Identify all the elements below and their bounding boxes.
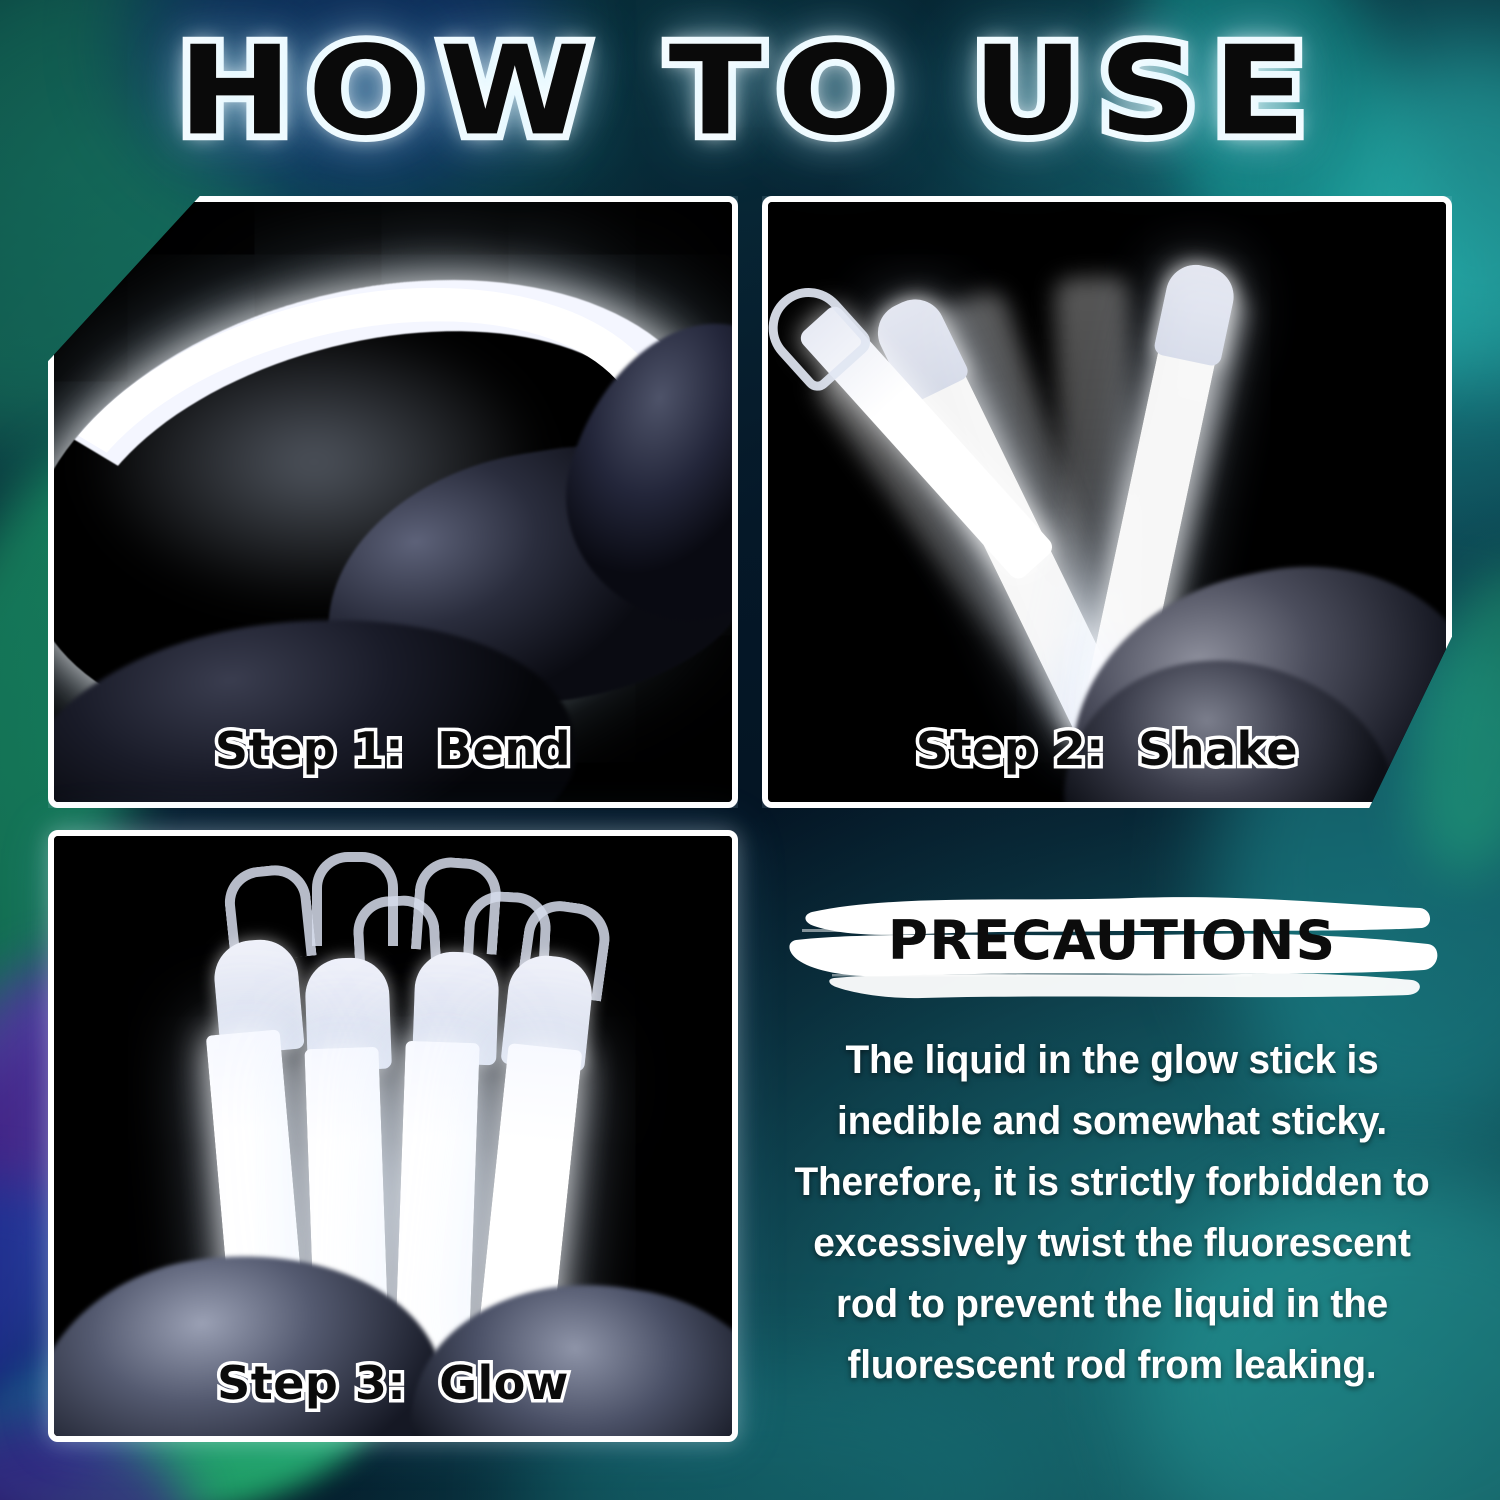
step-3-panel: Step 3: Glow [48, 830, 738, 1442]
step-3-photo [54, 836, 732, 1436]
step-1-panel: Step 1: Bend [48, 196, 738, 808]
step-2-label: Step 2: Shake [768, 722, 1446, 776]
precautions-section: PRECAUTIONS The liquid in the glow stick… [762, 830, 1462, 1442]
precautions-heading: PRECAUTIONS [765, 882, 1459, 1000]
step-3-label: Step 3: Glow [54, 1356, 732, 1410]
step-2-photo [768, 202, 1446, 802]
how-to-use-infographic: HOW TO USE Step 1: Bend Step [0, 0, 1500, 1500]
step-2-panel: Step 2: Shake [762, 196, 1452, 808]
page-title: HOW TO USE [178, 31, 1322, 154]
step-1-photo [54, 202, 732, 802]
precautions-body-text: The liquid in the glow stick is inedible… [778, 1030, 1445, 1396]
page-title-container: HOW TO USE [0, 34, 1500, 150]
step-1-label: Step 1: Bend [54, 722, 732, 776]
brush-stroke-banner: PRECAUTIONS [772, 882, 1452, 1000]
